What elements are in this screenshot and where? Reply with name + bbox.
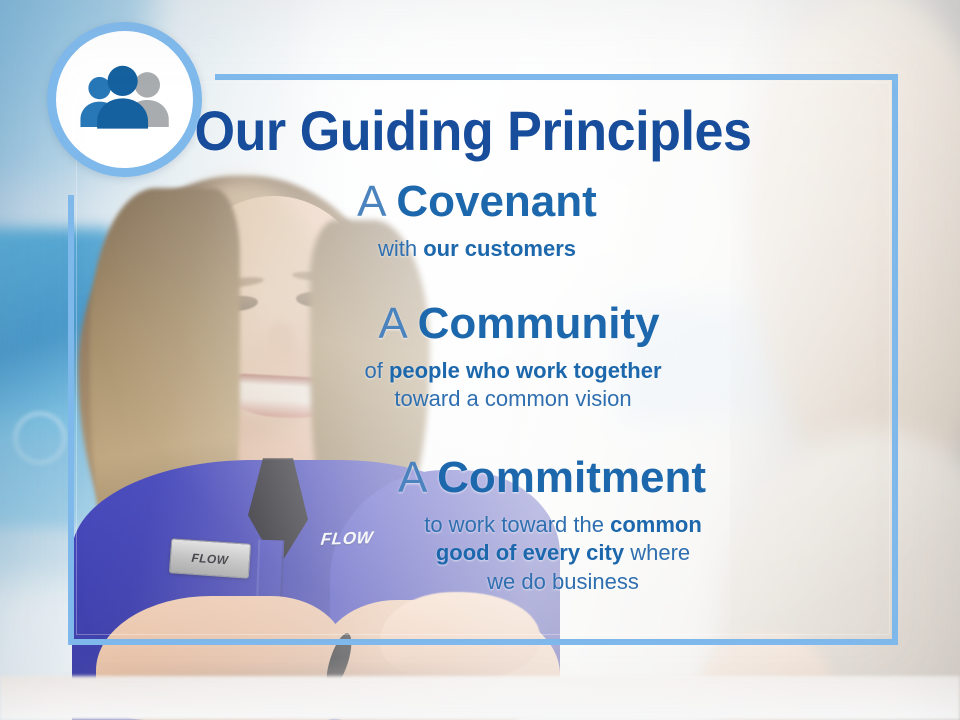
desk-surface xyxy=(0,676,960,720)
subtext-plain: with xyxy=(378,236,423,261)
subtext-plain: toward a common vision xyxy=(394,386,631,411)
subtext-line: of people who work together xyxy=(128,357,898,386)
subtext-plain: where xyxy=(624,540,690,565)
subtext-emphasis: people who work together xyxy=(389,358,662,383)
subtext-plain: we do business xyxy=(487,569,639,594)
principle-community-article: A xyxy=(378,299,405,348)
principle-covenant-subtext: with our customers xyxy=(78,235,898,264)
subtext-line: toward a common vision xyxy=(128,385,898,414)
subtext-line: with our customers xyxy=(78,235,876,264)
principle-covenant-article: A xyxy=(357,177,384,226)
principle-covenant: A Covenant with our customers xyxy=(78,178,898,263)
subtext-emphasis: common xyxy=(610,512,702,537)
subtext-emphasis: good of every city xyxy=(436,540,624,565)
principle-community-subtext: of people who work togethertoward a comm… xyxy=(78,357,898,414)
content-area: Our Guiding Principles A Covenant with o… xyxy=(78,74,898,645)
subtext-line: we do business xyxy=(228,568,898,597)
principle-community-heading: A Community xyxy=(78,300,898,348)
guiding-principles-graphic: FLOW FLOW xyxy=(0,0,960,720)
subtext-plain: to work toward the xyxy=(424,512,610,537)
principle-covenant-word: Covenant xyxy=(396,177,596,226)
principle-commitment-subtext: to work toward the commongood of every c… xyxy=(78,511,898,597)
subtext-plain: of xyxy=(364,358,388,383)
principle-community: A Community of people who work togethert… xyxy=(78,300,898,414)
subtext-line: to work toward the common xyxy=(228,511,898,540)
principle-covenant-heading: A Covenant xyxy=(78,178,898,226)
principle-commitment-heading: A Commitment xyxy=(78,454,898,502)
page-title: Our Guiding Principles xyxy=(106,103,841,159)
principle-commitment: A Commitment to work toward the commongo… xyxy=(78,454,898,596)
principle-community-word: Community xyxy=(418,299,660,348)
principle-commitment-word: Commitment xyxy=(437,453,706,502)
principle-commitment-article: A xyxy=(398,453,425,502)
subtext-emphasis: our customers xyxy=(423,236,576,261)
subtext-line: good of every city where xyxy=(228,539,898,568)
